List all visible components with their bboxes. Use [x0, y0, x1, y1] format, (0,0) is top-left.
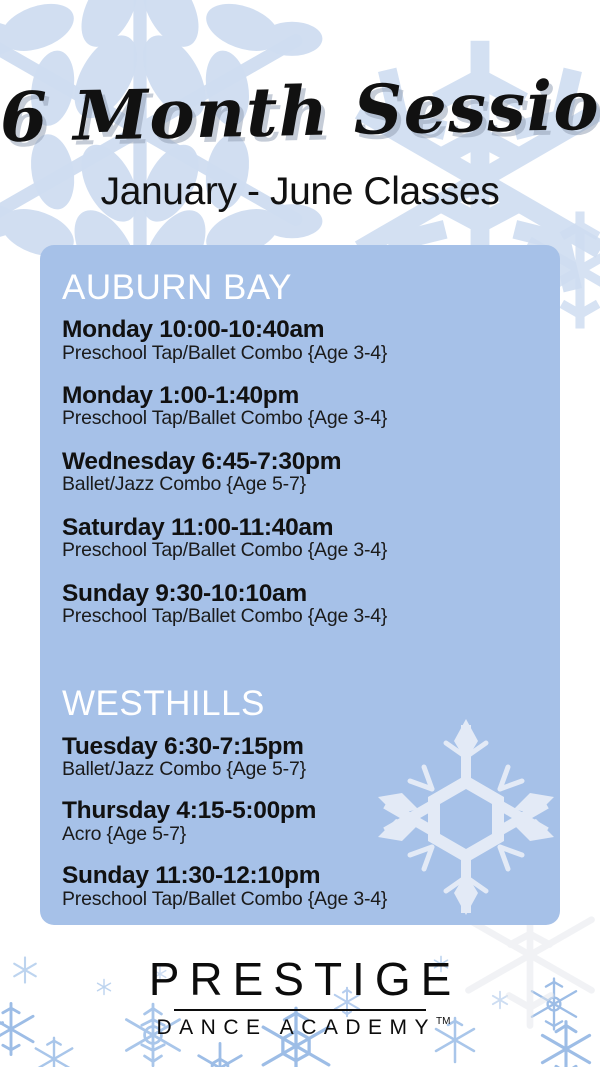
venue-section-westhills: WESTHILLS Tuesday 6:30-7:15pm Ballet/Jaz… [62, 685, 560, 910]
poster: 6 Month Sessional January - June Classes [0, 0, 600, 1067]
schedule-content: AUBURN BAY Monday 10:00-10:40am Preschoo… [40, 245, 560, 910]
page-title: 6 Month Sessional [0, 72, 600, 153]
class-description: Ballet/Jazz Combo {Age 5-7} [62, 474, 560, 495]
class-description: Preschool Tap/Ballet Combo {Age 3-4} [62, 540, 560, 561]
class-description: Preschool Tap/Ballet Combo {Age 3-4} [62, 343, 560, 364]
class-description: Ballet/Jazz Combo {Age 5-7} [62, 759, 560, 780]
class-description: Preschool Tap/Ballet Combo {Age 3-4} [62, 889, 560, 910]
class-listing: Saturday 11:00-11:40am Preschool Tap/Bal… [62, 514, 560, 562]
class-description: Preschool Tap/Ballet Combo {Age 3-4} [62, 606, 560, 627]
trademark-symbol: TM [436, 1016, 450, 1027]
class-time: Monday 1:00-1:40pm [62, 382, 560, 409]
class-listing: Tuesday 6:30-7:15pm Ballet/Jazz Combo {A… [62, 733, 560, 781]
venue-title: AUBURN BAY [62, 269, 560, 306]
class-listing: Wednesday 6:45-7:30pm Ballet/Jazz Combo … [62, 448, 560, 496]
brand-tagline: DANCE ACADEMYTM [150, 1017, 451, 1038]
class-time: Sunday 9:30-10:10am [62, 580, 560, 607]
class-listing: Monday 10:00-10:40am Preschool Tap/Balle… [62, 316, 560, 364]
page-subtitle: January - June Classes [0, 172, 600, 211]
class-listing: Thursday 4:15-5:00pm Acro {Age 5-7} [62, 797, 560, 845]
logo-divider [174, 1009, 426, 1011]
class-description: Preschool Tap/Ballet Combo {Age 3-4} [62, 408, 560, 429]
poster-footer: PRESTIGE DANCE ACADEMYTM [0, 930, 600, 1067]
schedule-panel: AUBURN BAY Monday 10:00-10:40am Preschoo… [40, 245, 560, 925]
brand-name: PRESTIGE [0, 956, 600, 1002]
poster-header: 6 Month Sessional January - June Classes [0, 0, 600, 245]
class-listing: Sunday 9:30-10:10am Preschool Tap/Ballet… [62, 580, 560, 628]
class-time: Sunday 11:30-12:10pm [62, 862, 560, 889]
brand-logo: PRESTIGE DANCE ACADEMYTM [0, 956, 600, 1039]
class-listing: Monday 1:00-1:40pm Preschool Tap/Ballet … [62, 382, 560, 430]
class-time: Monday 10:00-10:40am [62, 316, 560, 343]
class-description: Acro {Age 5-7} [62, 824, 560, 845]
class-time: Tuesday 6:30-7:15pm [62, 733, 560, 760]
venue-section-auburn-bay: AUBURN BAY Monday 10:00-10:40am Preschoo… [62, 269, 560, 627]
venue-title: WESTHILLS [62, 685, 560, 722]
class-time: Saturday 11:00-11:40am [62, 514, 560, 541]
brand-tagline-text: DANCE ACADEMY [157, 1016, 437, 1039]
class-listing: Sunday 11:30-12:10pm Preschool Tap/Balle… [62, 862, 560, 910]
class-time: Wednesday 6:45-7:30pm [62, 448, 560, 475]
class-time: Thursday 4:15-5:00pm [62, 797, 560, 824]
